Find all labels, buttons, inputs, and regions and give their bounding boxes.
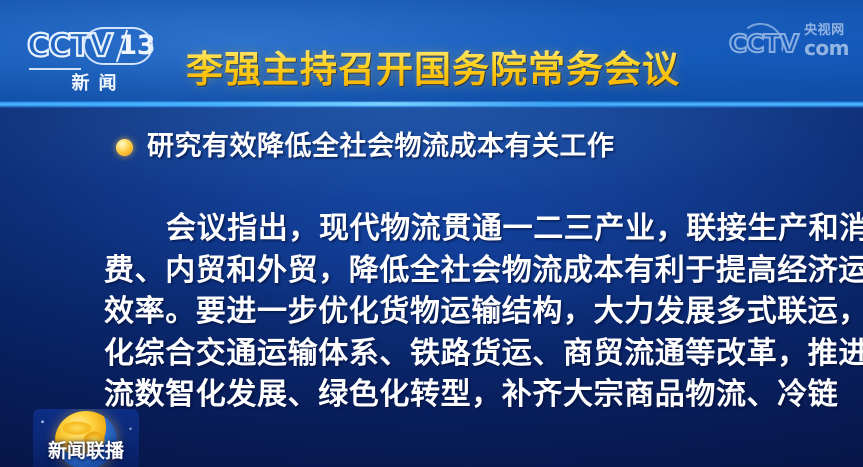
body-line: 会议指出，现代物流贯通一二三产业，联接生产和消 [104,208,804,250]
program-name-label: 新闻联播 [33,436,139,463]
subtitle-text: 研究有效降低全社会物流成本有关工作 [147,131,615,163]
body-line: 效率。要进一步优化货物运输结构，大力发展多式联运，深 [104,291,804,333]
watermark-right-group: 央视网 com [804,24,849,58]
body-line: 化综合交通运输体系、铁路货运、商贸流通等改革，推进物 [104,333,804,375]
cctv13-channel-logo: CCTV 13 新闻 [27,26,155,88]
cctv-slash-icon [114,28,118,64]
body-line: 流数智化发展、绿色化转型，补齐大宗商品物流、冷链 [104,374,804,416]
body-text-block: 会议指出，现代物流贯通一二三产业，联接生产和消 费、内贸和外贸，降低全社会物流成… [104,208,804,416]
xinwen-lianbo-logo: 新闻联播 [33,409,139,467]
watermark-domain-label: com [804,38,849,58]
cctv-com-watermark: CCTV 央视网 com [729,18,849,58]
body-line: 费、内贸和外贸，降低全社会物流成本有利于提高经济运行 [104,250,804,292]
bullet-point-icon [116,139,133,156]
cctv-channel-subtitle: 新闻 [35,69,153,95]
page-title: 李强主持召开国务院常务会议 [186,48,680,92]
broadcast-screen: CCTV 13 新闻 李强主持召开国务院常务会议 CCTV 央视网 com 研究… [0,0,863,467]
subtitle-row: 研究有效降低全社会物流成本有关工作 [116,131,615,163]
header-divider-highlight [0,102,620,106]
